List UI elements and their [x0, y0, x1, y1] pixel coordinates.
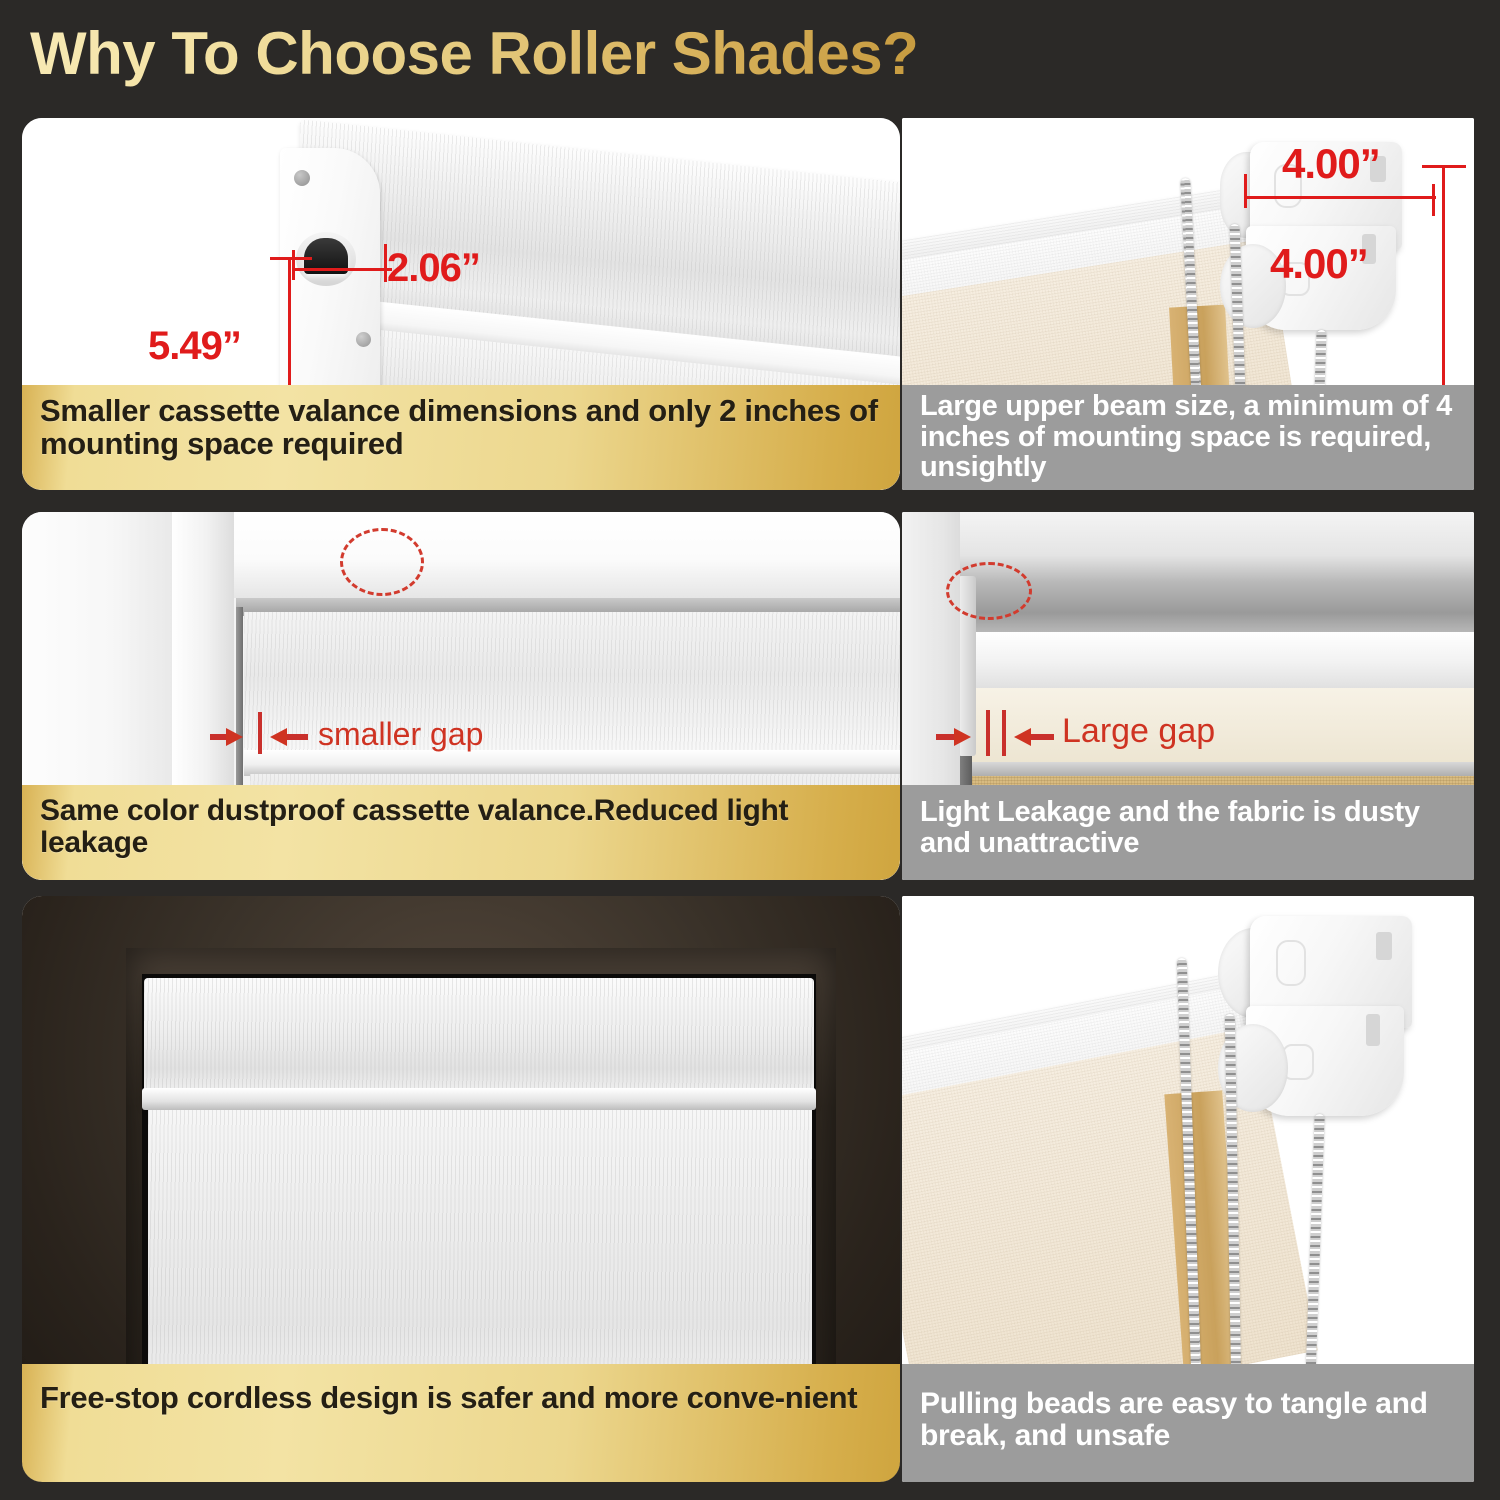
ceiling-strip — [902, 512, 1474, 556]
title-bar: Why To Choose Roller Shades? — [0, 0, 1500, 110]
valance-lip — [142, 1088, 816, 1110]
gap-arrow-left-icon — [1014, 728, 1031, 746]
gap-arrow-right-icon — [226, 728, 243, 746]
page-title: Why To Choose Roller Shades? — [30, 19, 918, 88]
beam-height-line — [1442, 166, 1445, 396]
gap-arrow-right-icon — [954, 728, 971, 746]
panel-cordless-design: Free-stop cordless design is safer and m… — [22, 896, 900, 1482]
screw-icon — [294, 170, 310, 186]
highlight-circle-icon — [340, 528, 424, 596]
screw-icon — [356, 332, 371, 347]
panel-dustproof-cassette: smaller gap Same color dustproof cassett… — [22, 512, 900, 880]
gap-tick — [258, 712, 262, 754]
gap-arrow-left-shaft — [1030, 734, 1054, 740]
panel-pulling-beads: Pulling beads are easy to tangle and bre… — [902, 896, 1474, 1482]
highlight-circle-icon — [946, 562, 1032, 620]
beam-height-label: 4.00” — [1270, 240, 1368, 288]
gap-label: smaller gap — [318, 716, 483, 753]
gap-label: Large gap — [1062, 712, 1215, 751]
beam-width-tick-left — [1244, 174, 1247, 208]
panel-smaller-cassette: 2.06” 5.49” Smaller cassette valance dim… — [22, 118, 900, 490]
gap-tick-right — [1002, 710, 1006, 756]
width-dimension-line — [294, 268, 392, 271]
beam-width-line — [1246, 196, 1436, 199]
gap-arrow-left-icon — [270, 728, 287, 746]
panel-1-caption: Smaller cassette valance dimensions and … — [22, 385, 900, 490]
gap-tick-left — [986, 710, 990, 756]
panel-2-caption: Large upper beam size, a minimum of 4 in… — [902, 385, 1474, 490]
beam-height-tick-top — [1422, 165, 1466, 168]
beam-width-tick-right — [1432, 184, 1435, 216]
width-dimension-tick-left — [292, 250, 295, 280]
gap-arrow-left-shaft — [286, 734, 308, 740]
cream-fabric-band — [968, 688, 1474, 770]
bracket-emboss — [1276, 940, 1306, 986]
height-dimension-label: 5.49” — [148, 324, 241, 369]
shade-middle-rail — [244, 750, 900, 776]
bracket-notch — [1376, 932, 1392, 960]
window-frame-head — [172, 512, 900, 598]
panel-5-caption: Free-stop cordless design is safer and m… — [22, 1364, 900, 1482]
beam-width-label: 4.00” — [1282, 140, 1380, 188]
bracket-notch — [1366, 1014, 1380, 1046]
panel-light-leakage: Large gap Light Leakage and the fabric i… — [902, 512, 1474, 880]
panel-4-caption: Light Leakage and the fabric is dusty an… — [902, 785, 1474, 880]
cassette-valance — [144, 978, 814, 1104]
width-dimension-label: 2.06” — [387, 246, 480, 291]
panel-6-caption: Pulling beads are easy to tangle and bre… — [902, 1364, 1474, 1482]
panel-3-caption: Same color dustproof cassette valance.Re… — [22, 785, 900, 880]
height-dimension-tick-top — [270, 257, 312, 260]
panel-large-upper-beam: 4.00” 4.00” Large upper beam size, a min… — [902, 118, 1474, 490]
